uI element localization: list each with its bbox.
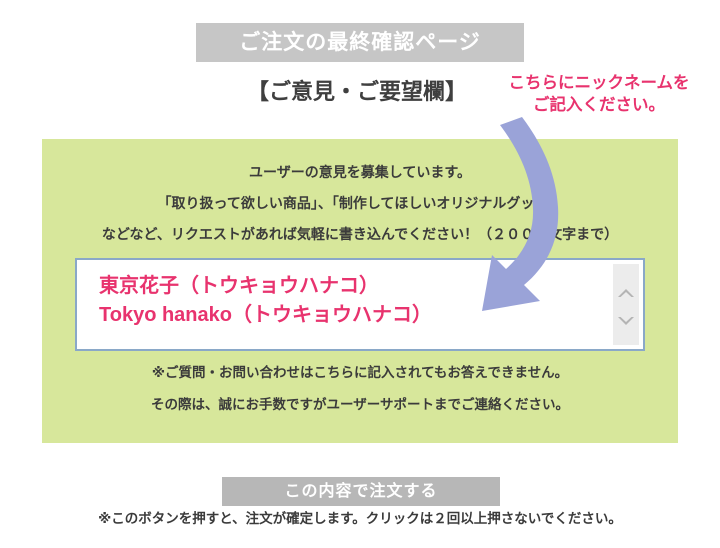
- chevron-up-icon[interactable]: [613, 282, 639, 304]
- panel-footnote-line-1: ※ご質問・お問い合わせはこちらに記入されてもお答えできません。: [42, 366, 678, 380]
- section-heading: 【ご意見・ご要望欄】: [247, 74, 467, 106]
- panel-intro-line-2: 「取り扱って欲しい商品」、「制作してほしいオリジナルグッズ」: [42, 196, 678, 210]
- nickname-annotation: こちらにニックネームを ご記入ください。: [478, 72, 720, 117]
- panel-intro-text: ユーザーの意見を募集しています。 「取り扱って欲しい商品」、「制作してほしいオリ…: [42, 165, 678, 241]
- comment-textarea[interactable]: 東京花子（トウキョウハナコ） Tokyo hanako（トウキョウハナコ）: [75, 258, 645, 351]
- submit-order-button[interactable]: この内容で注文する: [222, 477, 500, 506]
- comment-value-line-1: 東京花子（トウキョウハナコ）: [99, 272, 603, 301]
- comment-textarea-content[interactable]: 東京花子（トウキョウハナコ） Tokyo hanako（トウキョウハナコ）: [77, 260, 613, 349]
- submit-note: ※このボタンを押すと、注文が確定します。クリックは２回以上押さないでください。: [0, 512, 720, 526]
- comment-textarea-scrollbar[interactable]: [613, 264, 639, 345]
- page-title: ご注文の最終確認ページ: [239, 32, 481, 53]
- submit-order-button-label: この内容で注文する: [284, 484, 437, 500]
- nickname-annotation-line-1: こちらにニックネームを: [478, 72, 720, 94]
- chevron-down-icon[interactable]: [613, 310, 639, 332]
- page-header-banner: ご注文の最終確認ページ: [196, 23, 524, 62]
- nickname-annotation-line-2: ご記入ください。: [478, 94, 720, 116]
- section-heading-row: 【ご意見・ご要望欄】 こちらにニックネームを ご記入ください。: [0, 72, 720, 122]
- comment-form-panel: ユーザーの意見を募集しています。 「取り扱って欲しい商品」、「制作してほしいオリ…: [42, 139, 678, 443]
- panel-footnote-text: ※ご質問・お問い合わせはこちらに記入されてもお答えできません。 その際は、誠にお…: [42, 366, 678, 411]
- panel-footnote-line-2: その際は、誠にお手数ですがユーザーサポートまでご連絡ください。: [42, 398, 678, 412]
- panel-intro-line-3: などなど、リクエストがあれば気軽に書き込んでください！（２０００文字まで）: [42, 227, 678, 241]
- panel-intro-line-1: ユーザーの意見を募集しています。: [42, 165, 678, 179]
- comment-value-line-2: Tokyo hanako（トウキョウハナコ）: [99, 301, 603, 330]
